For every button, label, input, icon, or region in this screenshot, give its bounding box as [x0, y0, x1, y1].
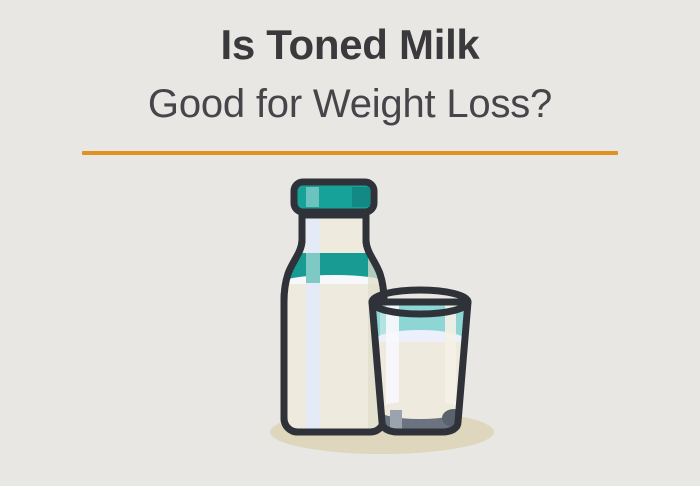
bottle-highlight	[306, 216, 320, 432]
bottle-cap-highlight	[306, 187, 319, 207]
divider-rule	[82, 151, 618, 155]
header: Is Toned Milk Good for Weight Loss?	[0, 0, 700, 168]
bottle-cap-shade	[352, 187, 370, 207]
page-subtitle: Good for Weight Loss?	[0, 82, 700, 126]
milk-illustration	[230, 170, 530, 470]
page-title: Is Toned Milk	[0, 22, 700, 68]
milk-glass-icon	[360, 290, 480, 438]
bottle-highlight-band	[306, 253, 320, 283]
poster-canvas: Is Toned Milk Good for Weight Loss?	[0, 0, 700, 486]
